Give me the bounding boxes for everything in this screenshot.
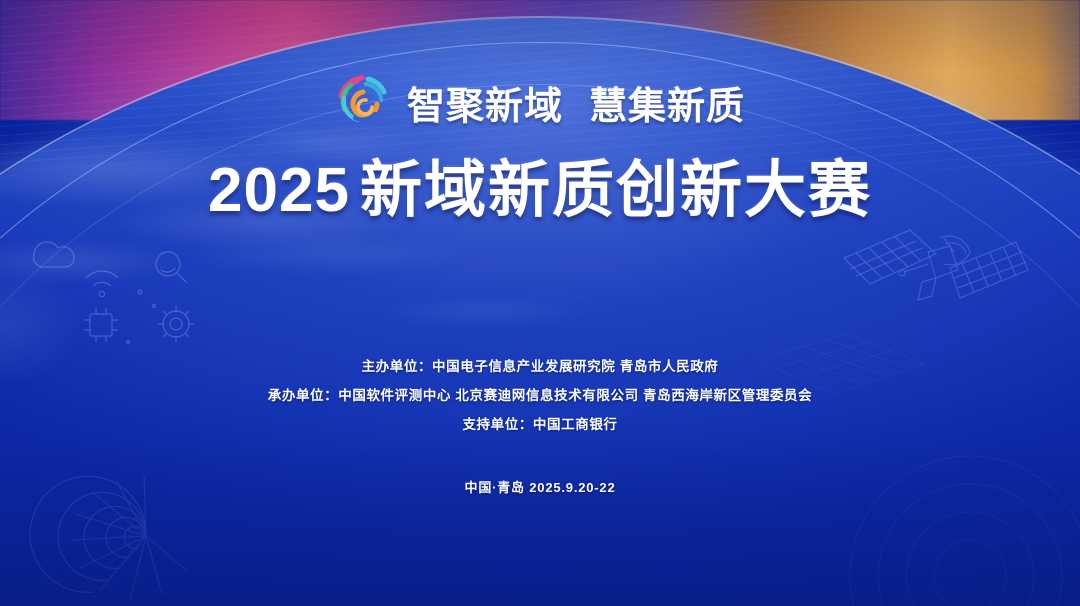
swirl-logo-icon — [335, 74, 393, 130]
organizer-line-undertaker: 承办单位：中国软件评测中心 北京赛迪网信息技术有限公司 青岛西海岸新区管理委员会 — [268, 384, 813, 404]
poster-content: 智聚新域慧集新质 2025新域新质创新大赛 主办单位：中国电子信息产业发展研究院… — [0, 0, 1080, 606]
tagline-row: 智聚新域慧集新质 — [335, 74, 745, 130]
title-year: 2025 — [208, 156, 350, 225]
page-title: 2025新域新质创新大赛 — [208, 139, 872, 229]
tagline-right: 慧集新质 — [589, 86, 745, 128]
event-location-date: 中国·青岛 2025.9.20-22 — [465, 477, 616, 496]
title-main: 新域新质创新大赛 — [360, 156, 872, 225]
organizer-line-host: 主办单位：中国电子信息产业发展研究院 青岛市人民政府 — [362, 355, 719, 375]
event-tagline: 智聚新域慧集新质 — [407, 75, 745, 130]
tagline-left: 智聚新域 — [407, 86, 563, 128]
organizer-block: 主办单位：中国电子信息产业发展研究院 青岛市人民政府 承办单位：中国软件评测中心… — [268, 355, 813, 433]
organizer-line-supporter: 支持单位：中国工商银行 — [462, 413, 617, 433]
event-poster: 智聚新域慧集新质 2025新域新质创新大赛 主办单位：中国电子信息产业发展研究院… — [0, 0, 1080, 606]
